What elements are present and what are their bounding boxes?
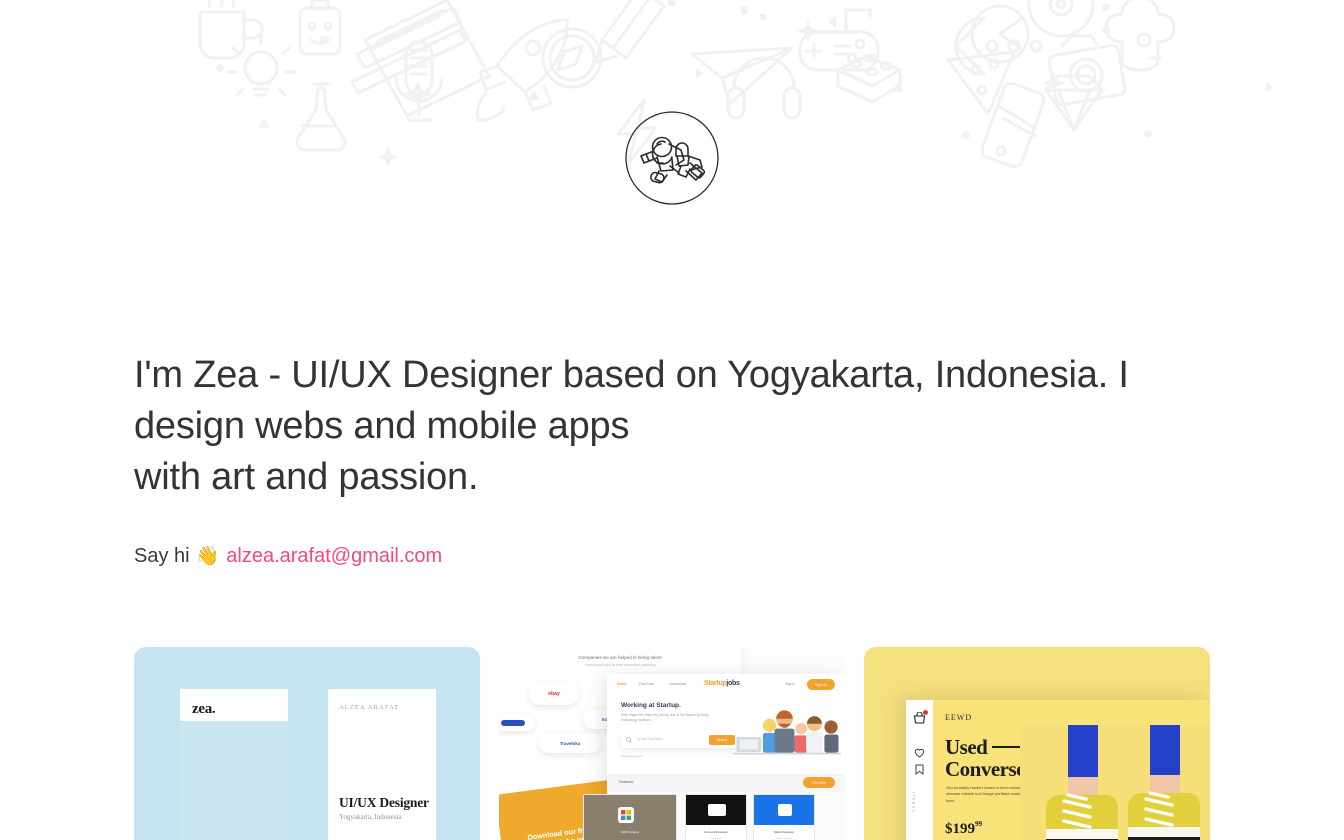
featured-section-bar: Featured Hot Jobs bbox=[607, 774, 845, 792]
job-card-3-title: Native Developer bbox=[754, 831, 814, 834]
nav-item-home[interactable]: Home bbox=[617, 682, 626, 686]
featured-label: Featured bbox=[619, 780, 633, 784]
pacman-icon bbox=[956, 18, 1041, 74]
pencil-icon bbox=[596, 0, 664, 62]
project-card-converse[interactable]: SCROLL EEWD Used Converse. You probably … bbox=[864, 647, 1210, 840]
featured-badge[interactable]: Hot Jobs bbox=[803, 777, 835, 788]
toast-icon bbox=[1106, 0, 1174, 70]
project-card-row: zea. ALZEA ARAFAT UI/UX Designer bbox=[134, 647, 1210, 840]
product-price: $19999 bbox=[945, 820, 982, 838]
job-card-2[interactable]: Front-end Developer Tokopedia $ | $$ bbox=[685, 794, 747, 840]
logo-ebay: ebay bbox=[529, 683, 579, 705]
pacman-icon-left bbox=[972, 6, 1028, 62]
decorative-marks bbox=[216, 0, 1344, 168]
headline-line-3: with art and passion. bbox=[134, 452, 1144, 503]
job-card-2-title: Front-end Developer bbox=[686, 831, 746, 834]
plant-photo bbox=[180, 721, 288, 840]
hero-body: Help shape the future by joining one of … bbox=[621, 713, 713, 723]
headphones-icon bbox=[728, 58, 800, 118]
compass-icon bbox=[543, 29, 601, 87]
nav-signup-button[interactable]: Sign Up bbox=[807, 679, 835, 690]
astronaut-logo bbox=[624, 110, 720, 206]
bookmark-icon[interactable] bbox=[915, 764, 924, 775]
heart-icon[interactable] bbox=[914, 748, 925, 758]
paper-plane-icon bbox=[692, 48, 792, 104]
people-illustration bbox=[733, 704, 841, 760]
companies-caption-sub: Lorem ipsum dolor sit amet consectetur a… bbox=[499, 663, 741, 667]
nav-item-companies[interactable]: Companies bbox=[669, 682, 686, 686]
job-card-1-title: UI/UX Designer bbox=[584, 831, 676, 834]
project-card-startupjobs[interactable]: Companies we are helped in hiring talent… bbox=[499, 647, 845, 840]
contact-line: Say hi 👋 alzea.arafat@gmail.com bbox=[134, 543, 442, 569]
nav-item-find-jobs[interactable]: Find Jobs bbox=[639, 682, 654, 686]
say-hi-label: Say hi bbox=[134, 543, 190, 569]
microphone-icon bbox=[396, 42, 442, 120]
smartphone-icon bbox=[980, 81, 1046, 169]
hero-heading: Working at Startup. bbox=[621, 702, 681, 709]
lego-head-icon bbox=[300, 0, 340, 54]
search-button[interactable]: Search bbox=[709, 735, 735, 745]
rocket-icon bbox=[477, 20, 567, 120]
job-card-3[interactable]: Native Developer Gojek Indonesia $ | $$ bbox=[753, 794, 815, 840]
startupjobs-site-screen: Home Find Jobs Companies Startupjobs Sig… bbox=[607, 674, 845, 840]
search-icon bbox=[626, 737, 632, 743]
search-input[interactable]: Try role: Developer bbox=[636, 737, 663, 741]
coffee-mug-icon bbox=[200, 0, 262, 58]
person-role: UI/UX Designer bbox=[339, 795, 429, 811]
shop-brand: EEWD bbox=[945, 713, 972, 722]
person-name: ALZEA ARAFAT bbox=[339, 704, 399, 711]
sneakers-photo bbox=[1020, 725, 1210, 840]
cart-badge bbox=[923, 710, 928, 715]
laptop-icon bbox=[352, 0, 489, 116]
logo-partial-left bbox=[499, 715, 535, 731]
side-rail: SCROLL bbox=[906, 700, 933, 840]
project-card-business-card[interactable]: zea. ALZEA ARAFAT UI/UX Designer bbox=[134, 647, 480, 840]
job-card-1[interactable]: UI/UX Designer bbox=[583, 794, 677, 840]
camera-icon bbox=[1048, 36, 1126, 106]
lightbulb-icon bbox=[228, 36, 294, 95]
converse-shop-screen: SCROLL EEWD Used Converse. You probably … bbox=[906, 700, 1210, 840]
companies-caption: Companies we are helped in hiring talent bbox=[499, 655, 741, 660]
person-location: Yogyakarta, Indonesia bbox=[339, 813, 402, 821]
zea-logo: zea. bbox=[192, 701, 215, 718]
waving-hand-icon: 👋 bbox=[196, 547, 220, 566]
site-navbar: Home Find Jobs Companies Startupjobs Sig… bbox=[607, 674, 845, 694]
advanced-search-link[interactable]: Advanced search bbox=[621, 754, 643, 758]
cd-disc-icon bbox=[1029, 0, 1093, 36]
business-card-front: zea. bbox=[180, 689, 288, 840]
nav-signin-link[interactable]: Sign In bbox=[785, 682, 795, 686]
pizza-icon bbox=[948, 52, 1014, 114]
logo-traveloka: Traveloka bbox=[539, 733, 601, 753]
job-search-bar[interactable]: Try role: Developer Search bbox=[621, 732, 739, 748]
site-hero: Working at Startup. Help shape the futur… bbox=[607, 694, 845, 774]
email-link[interactable]: alzea.arafat@gmail.com bbox=[226, 543, 442, 569]
lego-brick-icon bbox=[838, 55, 900, 102]
page-title: I'm Zea - UI/UX Designer based on Yogyak… bbox=[134, 350, 1144, 503]
game-controller-icon bbox=[800, 10, 878, 70]
diamond-icon bbox=[1046, 76, 1102, 130]
headline-line-2: design webs and mobile apps bbox=[134, 401, 1144, 452]
app-icon bbox=[621, 810, 631, 820]
site-logo: Startupjobs bbox=[704, 680, 740, 687]
business-card-back: ALZEA ARAFAT UI/UX Designer Yogyakarta, … bbox=[328, 689, 436, 840]
flask-icon bbox=[297, 84, 345, 150]
portfolio-page: I'm Zea - UI/UX Designer based on Yogyak… bbox=[0, 0, 1344, 840]
headline-line-1: I'm Zea - UI/UX Designer based on Yogyak… bbox=[134, 350, 1144, 401]
scroll-label: SCROLL bbox=[912, 789, 916, 812]
